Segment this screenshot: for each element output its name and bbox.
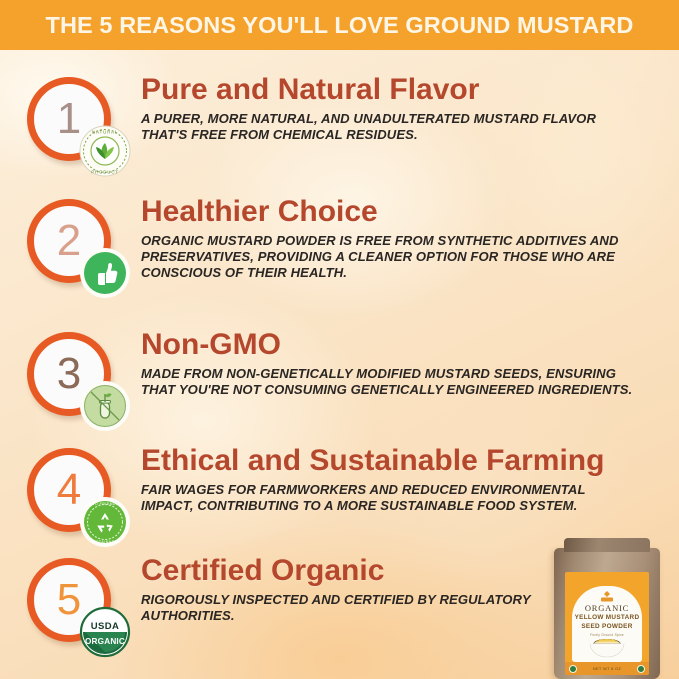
recycle-seal-bottom-text: SUSTAINABLE	[90, 540, 120, 544]
usda-seal-bottom-text: ORGANIC	[85, 637, 125, 646]
reason-4-description: FAIR WAGES FOR FARMWORKERS AND REDUCED E…	[141, 482, 669, 515]
package-label: ORGANIC YELLOW MUSTARD SEED POWDER Finel…	[565, 572, 649, 675]
infographic-page: THE 5 REASONS YOU'LL LOVE GROUND MUSTARD…	[0, 0, 679, 679]
package-organic-text: ORGANIC	[572, 603, 642, 613]
reason-2-desc-line-1: ORGANIC MUSTARD POWDER IS FREE FROM SYNT…	[141, 233, 669, 249]
reason-1-description: A PURER, MORE NATURAL, AND UNADULTERATED…	[141, 111, 669, 144]
reason-1-text: Pure and Natural Flavor A PURER, MORE NA…	[141, 75, 669, 143]
reason-3-desc-line-1: MADE FROM NON-GENETICALLY MODIFIED MUSTA…	[141, 366, 669, 382]
recycle-seal-top-text: ECO FRIENDLY	[89, 502, 121, 506]
natural-seal-bottom-text: PRODUCT	[91, 170, 119, 175]
product-package-image: ORGANIC YELLOW MUSTARD SEED POWDER Finel…	[554, 538, 660, 679]
reason-4-desc-line-1: FAIR WAGES FOR FARMWORKERS AND REDUCED E…	[141, 482, 669, 498]
reason-1-number: 1	[57, 97, 81, 141]
reason-3-desc-line-2: THAT YOU'RE NOT CONSUMING GENETICALLY EN…	[141, 382, 669, 398]
package-pouch: ORGANIC YELLOW MUSTARD SEED POWDER Finel…	[554, 548, 660, 679]
reason-2-text: Healthier Choice ORGANIC MUSTARD POWDER …	[141, 197, 669, 282]
reason-5-badge-group: 5 USDA ORGANIC	[22, 556, 132, 666]
mustard-powder-bowl-icon	[585, 636, 629, 658]
reason-2-description: ORGANIC MUSTARD POWDER IS FREE FROM SYNT…	[141, 233, 669, 282]
reason-3-badge-group: 3	[22, 330, 132, 440]
package-name-line-2: SEED POWDER	[572, 623, 642, 632]
reason-4-badge-group: 4 ECO FRIENDLY SUSTAINABLE	[22, 446, 132, 556]
reason-1-desc-line-1: A PURER, MORE NATURAL, AND UNADULTERATED…	[141, 111, 669, 127]
usda-organic-seal-icon: USDA ORGANIC	[79, 606, 131, 658]
reason-1-desc-line-2: THAT'S FREE FROM CHEMICAL RESIDUES.	[141, 127, 669, 143]
reason-4-number: 4	[57, 468, 81, 512]
reason-5-number: 5	[57, 578, 81, 622]
natural-seal-top-text: NATURAL	[92, 130, 118, 135]
package-top-seal	[564, 538, 650, 552]
package-label-face: ORGANIC YELLOW MUSTARD SEED POWDER Finel…	[572, 586, 642, 662]
recycle-sustainable-seal-icon: ECO FRIENDLY SUSTAINABLE	[79, 496, 131, 548]
reason-3-description: MADE FROM NON-GENETICALLY MODIFIED MUSTA…	[141, 366, 669, 399]
reason-3-text: Non-GMO MADE FROM NON-GENETICALLY MODIFI…	[141, 330, 669, 398]
brand-crest-icon	[596, 589, 618, 600]
reason-1-badge-group: 1 NATURAL PRODUCT	[22, 75, 132, 185]
reason-3-title: Non-GMO	[141, 330, 669, 361]
package-name-line-1: YELLOW MUSTARD	[572, 614, 642, 623]
header-bar: THE 5 REASONS YOU'LL LOVE GROUND MUSTARD	[0, 0, 679, 50]
package-net-weight: NET WT 8 OZ	[593, 666, 622, 671]
package-footer: NET WT 8 OZ	[565, 662, 649, 675]
reason-1-title: Pure and Natural Flavor	[141, 75, 669, 106]
reason-3-number: 3	[57, 352, 81, 396]
reason-2-title: Healthier Choice	[141, 197, 669, 228]
reason-4-desc-line-2: IMPACT, CONTRIBUTING TO A MORE SUSTAINAB…	[141, 498, 669, 514]
reason-4-title: Ethical and Sustainable Farming	[141, 446, 669, 477]
usda-seal-top-text: USDA	[91, 621, 120, 632]
page-title: THE 5 REASONS YOU'LL LOVE GROUND MUSTARD	[46, 12, 634, 39]
reason-2-badge-group: 2	[22, 197, 132, 307]
package-seal-left-icon	[569, 665, 577, 673]
package-seal-right-icon	[637, 665, 645, 673]
non-gmo-test-tube-seal-icon	[79, 380, 131, 432]
thumbs-up-seal-icon	[79, 247, 131, 299]
reason-2-desc-line-3: CONSCIOUS OF THEIR HEALTH.	[141, 265, 669, 281]
reason-2-desc-line-2: PRESERVATIVES, PROVIDING A CLEANER OPTIO…	[141, 249, 669, 265]
reason-2-number: 2	[57, 219, 81, 263]
package-product-name: YELLOW MUSTARD SEED POWDER	[572, 614, 642, 631]
reason-4-text: Ethical and Sustainable Farming FAIR WAG…	[141, 446, 669, 514]
natural-product-leaf-seal-icon: NATURAL PRODUCT	[79, 125, 131, 177]
